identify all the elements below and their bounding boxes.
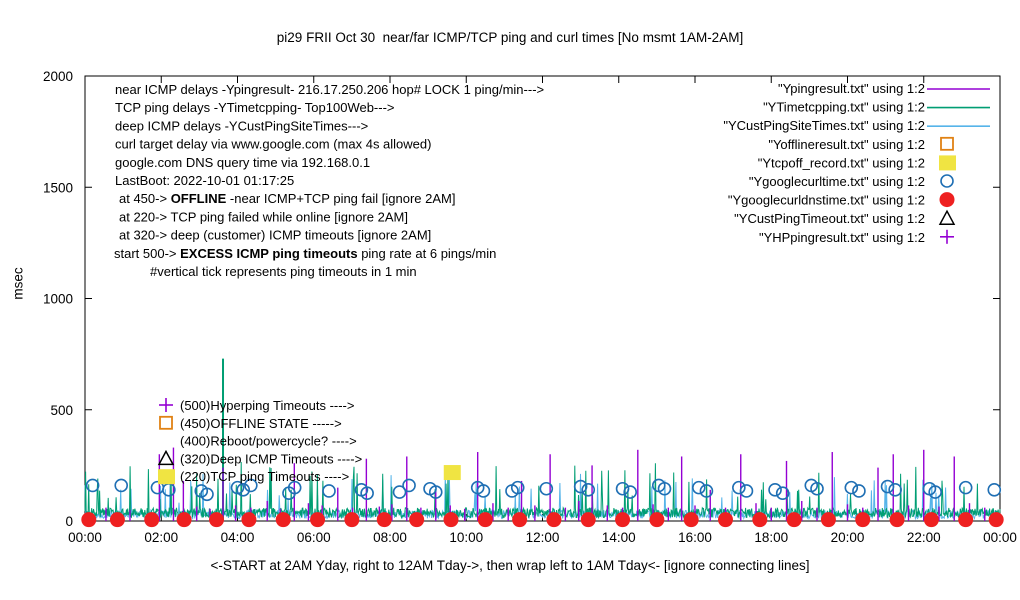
point-Ygooglecurltime bbox=[889, 484, 901, 496]
inchart-key-label: (320)Deep ICMP Timeouts ----> bbox=[180, 451, 362, 466]
point-Ygooglecurltime bbox=[403, 479, 415, 491]
legend-marker-swatch bbox=[940, 211, 954, 224]
annotation-line: curl target delay via www.google.com (ma… bbox=[115, 137, 431, 152]
point-Ygooglecurltime bbox=[988, 484, 1000, 496]
x-tick-label: 06:00 bbox=[297, 530, 331, 545]
point-Ygooglecurldnstime bbox=[890, 513, 904, 527]
point-Ygooglecurltime bbox=[853, 485, 865, 497]
point-Ygooglecurltime bbox=[617, 483, 629, 495]
point-Ygooglecurldnstime bbox=[311, 513, 325, 527]
y-tick-label: 1000 bbox=[43, 292, 73, 307]
point-Ygooglecurldnstime bbox=[177, 513, 191, 527]
y-tick-label: 0 bbox=[65, 514, 73, 529]
inchart-key-marker bbox=[160, 417, 172, 429]
point-Ygooglecurldnstime bbox=[924, 513, 938, 527]
legend-label: "Yofflineresult.txt" using 1:2 bbox=[768, 137, 925, 152]
annotation-line: deep ICMP delays -YCustPingSiteTimes---> bbox=[115, 118, 368, 133]
annotation-line: LastBoot: 2022-10-01 01:17:25 bbox=[115, 173, 294, 188]
point-Ygooglecurldnstime bbox=[581, 513, 595, 527]
point-Ygooglecurldnstime bbox=[242, 513, 256, 527]
annotation-line: at 220-> TCP ping failed while online [i… bbox=[119, 209, 408, 224]
point-Ygooglecurldnstime bbox=[821, 513, 835, 527]
point-Ygooglecurltime bbox=[115, 479, 127, 491]
point-Ygooglecurldnstime bbox=[616, 513, 630, 527]
point-Ygooglecurltime bbox=[845, 482, 857, 494]
inchart-key-marker bbox=[158, 469, 175, 484]
point-Ygooglecurldnstime bbox=[959, 513, 973, 527]
x-tick-label: 18:00 bbox=[754, 530, 788, 545]
point-Ygooglecurldnstime bbox=[410, 513, 424, 527]
point-Ygooglecurldnstime bbox=[684, 513, 698, 527]
y-tick-label: 2000 bbox=[43, 69, 73, 84]
point-Ygooglecurldnstime bbox=[82, 513, 96, 527]
annotation-line: near ICMP delays -Ypingresult- 216.17.25… bbox=[115, 82, 544, 97]
x-tick-label: 00:00 bbox=[983, 530, 1017, 545]
x-tick-label: 02:00 bbox=[144, 530, 178, 545]
annotation-line: TCP ping delays -YTimetcpping- Top100Web… bbox=[115, 100, 395, 115]
point-Ygooglecurldnstime bbox=[110, 513, 124, 527]
point-Ygooglecurldnstime bbox=[650, 513, 664, 527]
point-Ygooglecurldnstime bbox=[547, 513, 561, 527]
legend-marker-swatch bbox=[939, 155, 956, 170]
point-Ygooglecurltime bbox=[733, 482, 745, 494]
x-tick-label: 04:00 bbox=[221, 530, 255, 545]
point-Ygooglecurldnstime bbox=[989, 513, 1003, 527]
plot-canvas: 050010001500200000:0002:0004:0006:0008:0… bbox=[0, 0, 1020, 600]
x-tick-label: 00:00 bbox=[68, 530, 102, 545]
x-tick-label: 22:00 bbox=[907, 530, 941, 545]
annotations-group: near ICMP delays -Ypingresult- 216.17.25… bbox=[114, 82, 544, 279]
point-Ygooglecurldnstime bbox=[513, 513, 527, 527]
point-Ygooglecurltime bbox=[624, 486, 636, 498]
legend-group: "Ypingresult.txt" using 1:2"YTimetcpping… bbox=[723, 81, 990, 245]
legend-label: "Ytcpoff_record.txt" using 1:2 bbox=[758, 155, 925, 170]
inchart-key-label: (450)OFFLINE STATE -----> bbox=[180, 416, 342, 431]
legend-label: "YTimetcpping.txt" using 1:2 bbox=[763, 100, 925, 115]
legend-label: "YCustPingTimeout.txt" using 1:2 bbox=[734, 211, 925, 226]
point-Ygooglecurltime bbox=[769, 484, 781, 496]
chart-page: pi29 FRII Oct 30 near/far ICMP/TCP ping … bbox=[0, 0, 1020, 600]
legend-label: "Ypingresult.txt" using 1:2 bbox=[778, 81, 925, 96]
inchart-key-label: (220)TCP ping Timeouts ----> bbox=[180, 469, 349, 484]
point-Ygooglecurldnstime bbox=[345, 513, 359, 527]
y-tick-label: 1500 bbox=[43, 180, 73, 195]
point-Ygooglecurldnstime bbox=[478, 513, 492, 527]
point-Ygooglecurldnstime bbox=[787, 513, 801, 527]
point-Ygooglecurltime bbox=[693, 482, 705, 494]
annotation-line: #vertical tick represents ping timeouts … bbox=[150, 264, 417, 279]
legend-label: "YCustPingSiteTimes.txt" using 1:2 bbox=[723, 118, 925, 133]
x-tick-label: 12:00 bbox=[526, 530, 560, 545]
annotation-line: google.com DNS query time via 192.168.0.… bbox=[115, 155, 370, 170]
legend-label: "YHPpingresult.txt" using 1:2 bbox=[759, 230, 925, 245]
inchart-key-label: (500)Hyperping Timeouts ----> bbox=[180, 398, 354, 413]
x-tick-label: 16:00 bbox=[678, 530, 712, 545]
legend-label: "Ygooglecurltime.txt" using 1:2 bbox=[749, 174, 925, 189]
point-Ygooglecurltime bbox=[740, 485, 752, 497]
legend-marker-swatch bbox=[940, 193, 954, 207]
point-Ygooglecurldnstime bbox=[377, 513, 391, 527]
point-Ygooglecurltime bbox=[882, 481, 894, 493]
point-Ygooglecurldnstime bbox=[753, 513, 767, 527]
x-tick-label: 20:00 bbox=[831, 530, 865, 545]
point-Ygooglecurldnstime bbox=[719, 513, 733, 527]
legend-label: "Ygooglecurldnstime.txt" using 1:2 bbox=[728, 193, 925, 208]
point-Ygooglecurldnstime bbox=[210, 513, 224, 527]
point-Ygooglecurldnstime bbox=[444, 513, 458, 527]
point-Ygooglecurldnstime bbox=[145, 513, 159, 527]
annotation-line: start 500-> EXCESS ICMP ping timeouts pi… bbox=[114, 246, 496, 261]
point-Ygooglecurldnstime bbox=[276, 513, 290, 527]
inchart-keys-group: (500)Hyperping Timeouts ---->(450)OFFLIN… bbox=[158, 398, 362, 484]
x-tick-label: 10:00 bbox=[449, 530, 483, 545]
legend-marker-swatch bbox=[941, 175, 953, 187]
legend-marker-swatch bbox=[941, 138, 953, 150]
y-tick-label: 500 bbox=[50, 403, 73, 418]
inchart-key-label: (400)Reboot/powercycle? ----> bbox=[180, 434, 357, 449]
point-Ygooglecurltime bbox=[960, 482, 972, 494]
point-Ygooglecurldnstime bbox=[856, 513, 870, 527]
x-tick-label: 14:00 bbox=[602, 530, 636, 545]
inchart-key-marker bbox=[159, 451, 173, 464]
point-Ytcpoff_record bbox=[444, 465, 461, 480]
x-axis-caption: <-START at 2AM Yday, right to 12AM Tday-… bbox=[0, 558, 1020, 573]
point-Ygooglecurltime bbox=[323, 485, 335, 497]
annotation-line: at 320-> deep (customer) ICMP timeouts [… bbox=[119, 228, 431, 243]
x-tick-label: 08:00 bbox=[373, 530, 407, 545]
annotation-line: at 450-> OFFLINE -near ICMP+TCP ping fai… bbox=[119, 191, 455, 206]
